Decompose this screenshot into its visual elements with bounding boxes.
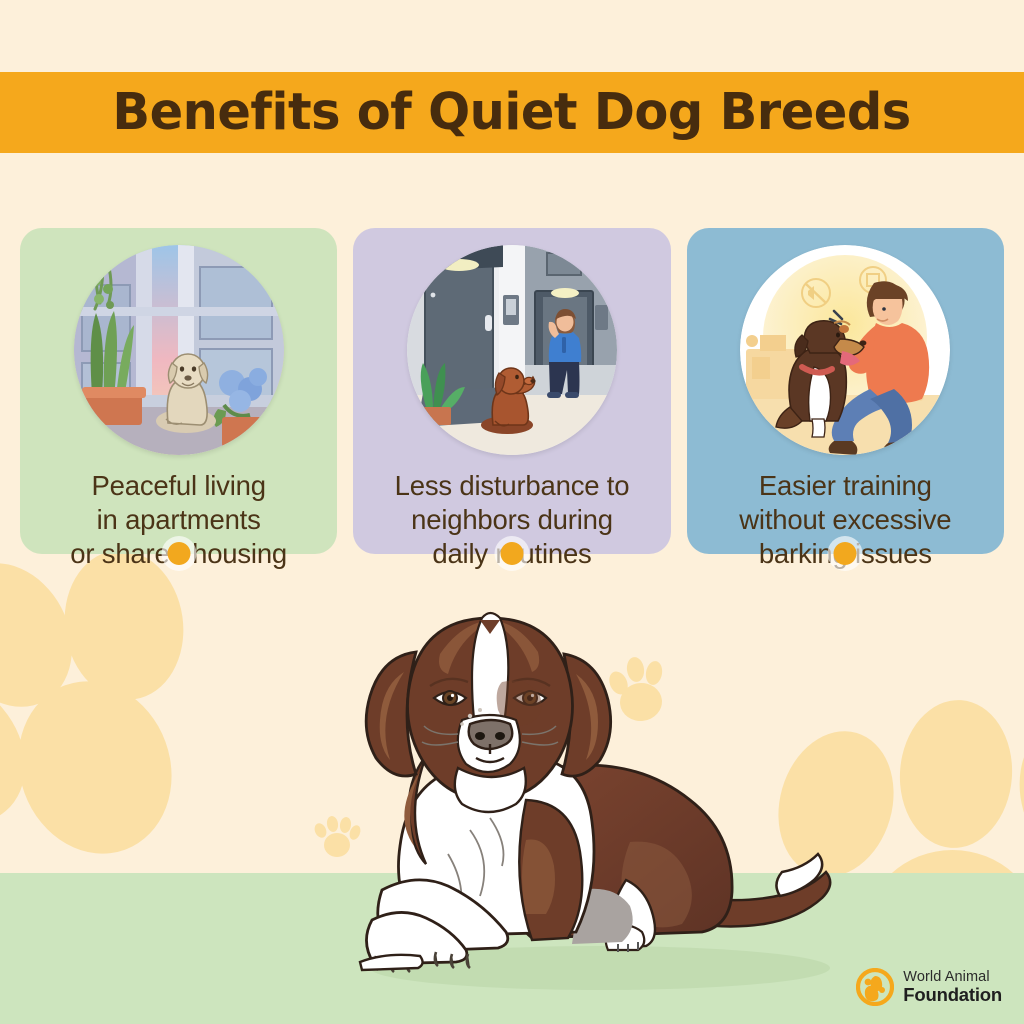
benefit-cards: Peaceful living in apartments or shared …	[20, 228, 1004, 554]
card-dot-indicator	[500, 542, 523, 565]
card-dot-indicator	[834, 542, 857, 565]
infographic-poster: Benefits of Quiet Dog Breeds	[0, 0, 1024, 1024]
paw-watermark-large-right	[840, 700, 1024, 980]
page-title: Benefits of Quiet Dog Breeds	[113, 83, 911, 142]
logo-line-foundation: Foundation	[903, 985, 1002, 1004]
header-band: Benefits of Quiet Dog Breeds	[0, 72, 1024, 153]
benefit-card-peaceful-living[interactable]: Peaceful living in apartments or shared …	[20, 228, 337, 554]
world-animal-foundation-paw-logo	[856, 968, 894, 1006]
benefit-card-easier-training[interactable]: Easier training without excessive barkin…	[687, 228, 1004, 554]
logo-wordmark: World Animal Foundation	[903, 970, 1002, 1004]
logo-line-world-animal: World Animal	[903, 970, 1002, 985]
paw-watermark-large-left	[0, 560, 270, 860]
brown-and-white-dog-lying-down-illustration	[330, 590, 850, 1010]
benefit-card-less-disturbance[interactable]: Less disturbance to neighbors during dai…	[353, 228, 670, 554]
man-training-dog-with-treat-illustration	[740, 245, 950, 455]
world-animal-foundation-logo[interactable]: World Animal Foundation	[856, 968, 1002, 1006]
dog-at-apartment-window-illustration	[74, 245, 284, 455]
card-dot-indicator	[167, 542, 190, 565]
dog-in-hallway-with-neighbor-illustration	[407, 245, 617, 455]
